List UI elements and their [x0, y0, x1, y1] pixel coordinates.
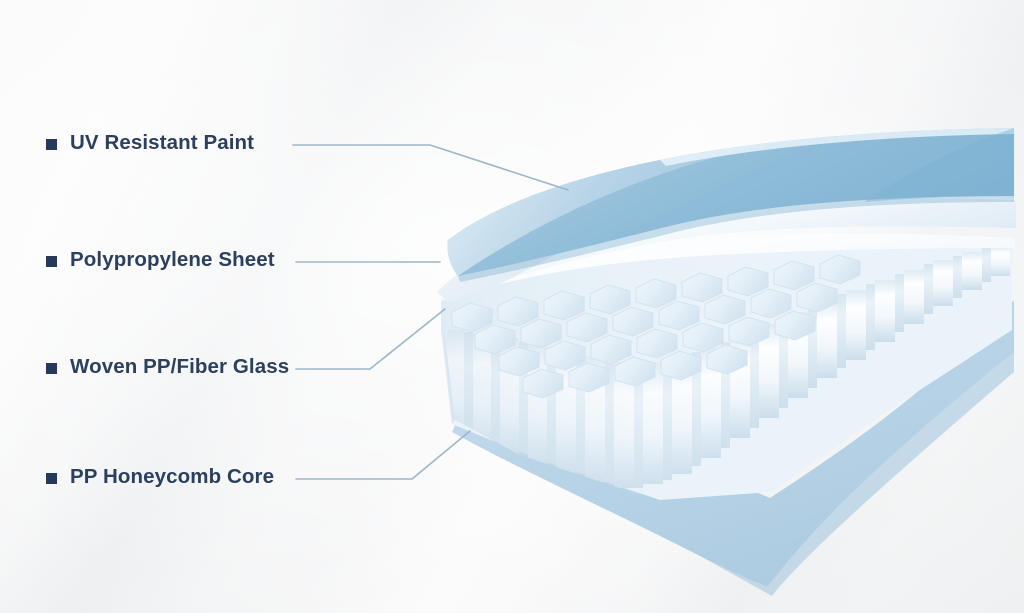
- bullet-square-icon: [46, 473, 57, 484]
- leader-line-pp-honeycomb-core: [296, 431, 470, 479]
- layer-label-pp-honeycomb-core[interactable]: PP Honeycomb Core: [46, 465, 274, 489]
- layer-label-uv-resistant-paint[interactable]: UV Resistant Paint: [46, 131, 254, 155]
- leader-line-woven-pp-fiber-glass: [296, 309, 445, 369]
- composite-panel-illustration: [0, 0, 1024, 613]
- bullet-square-icon: [46, 256, 57, 267]
- bullet-square-icon: [46, 363, 57, 374]
- honeycomb-core-layer: [430, 240, 1013, 510]
- bullet-square-icon: [46, 139, 57, 150]
- layer-label-text: UV Resistant Paint: [70, 131, 254, 155]
- layer-label-text: Woven PP/Fiber Glass: [70, 355, 289, 379]
- layer-label-polypropylene-sheet[interactable]: Polypropylene Sheet: [46, 248, 275, 272]
- leader-line-uv-resistant-paint: [293, 145, 568, 190]
- diagram-canvas: UV Resistant Paint Polypropylene Sheet W…: [0, 0, 1024, 613]
- layer-label-woven-pp-fiber-glass[interactable]: Woven PP/Fiber Glass: [46, 355, 289, 379]
- layer-label-text: PP Honeycomb Core: [70, 465, 274, 489]
- layer-label-text: Polypropylene Sheet: [70, 248, 275, 272]
